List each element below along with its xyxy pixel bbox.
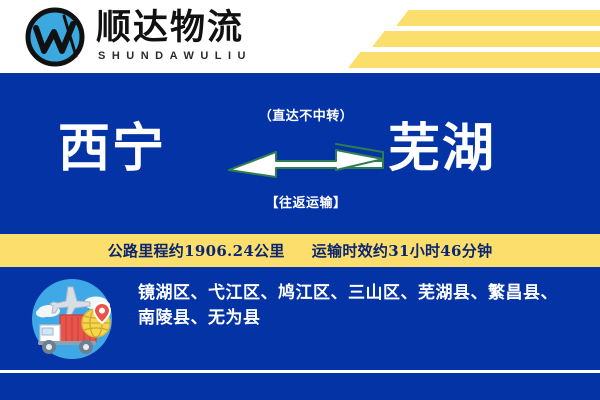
- route-middle-block: （直达不中转） 【往返运输】: [226, 109, 386, 213]
- header-stripe-1: [396, 10, 600, 26]
- route-info-bar: 公路里程约1906.24公里 运输时效约31小时46分钟: [0, 234, 600, 267]
- route-band: 西宁 （直达不中转） 【往返运输】 芜湖: [0, 73, 600, 234]
- coverage-section: 镜湖区、弋江区、鸠江区、三山区、芜湖县、繁昌县、南陵县、无为县: [0, 267, 600, 370]
- duration-label: 运输时效约31小时46分钟: [312, 242, 493, 260]
- poster-footer: [0, 373, 600, 400]
- circle-wave-logo-icon: [24, 6, 86, 68]
- route-origin-city: 西宁: [58, 123, 166, 175]
- info-bar-content: 公路里程约1906.24公里 运输时效约31小时46分钟: [108, 240, 493, 261]
- brand-lockup: 顺达物流 SHUNDAWULIU: [24, 6, 252, 68]
- poster-header: 顺达物流 SHUNDAWULIU: [0, 0, 600, 73]
- distance-label: 公路里程约1906.24公里: [108, 242, 285, 260]
- route-destination-city: 芜湖: [388, 123, 496, 175]
- brand-name-cn: 顺达物流: [96, 10, 252, 47]
- brand-name-en: SHUNDAWULIU: [96, 50, 252, 62]
- double-headed-arrow-icon: [226, 140, 386, 180]
- logistics-route-poster: 顺达物流 SHUNDAWULIU 西宁 （直达不中转） 【往返运输】 芜湖: [0, 0, 600, 400]
- brand-text-block: 顺达物流 SHUNDAWULIU: [96, 10, 252, 62]
- route-note-bottom: 【往返运输】: [265, 197, 346, 210]
- header-stripes-decoration: [300, 0, 600, 73]
- coverage-districts-text: 镜湖区、弋江区、鸠江区、三山区、芜湖县、繁昌县、南陵县、无为县: [138, 281, 570, 330]
- logistics-truck-plane-globe-icon: [24, 275, 120, 363]
- header-stripe-2: [372, 31, 600, 47]
- header-stripe-3: [348, 52, 600, 68]
- route-note-top: （直达不中转）: [259, 110, 354, 123]
